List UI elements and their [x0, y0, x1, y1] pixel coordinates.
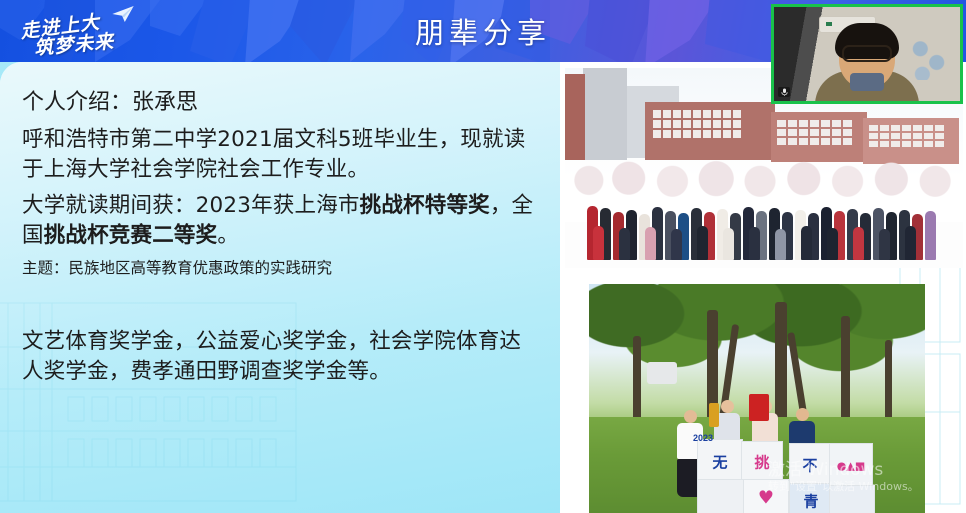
slide-canvas: 朋辈分享 走进上大 筑梦未来	[0, 0, 966, 513]
group-photo-people	[587, 182, 943, 260]
award-bold-1: 挑战杯特等奖	[360, 193, 490, 218]
awards-prefix: 大学就读期间获：	[22, 193, 196, 218]
awards-suffix: 。	[217, 223, 239, 248]
student-intro-line: 个人介绍：张承思	[22, 86, 538, 119]
cube-7: ●▲■	[829, 443, 873, 489]
cube-3	[697, 479, 745, 513]
microphone-icon[interactable]	[778, 87, 790, 97]
scholarships-text: 文艺体育奖学金，公益爱心奖学金，社会学院体育达人奖学金，费孝通田野调查奖学金等。	[22, 327, 538, 387]
cube-char-2: 挑	[754, 452, 769, 473]
speaker-glasses	[842, 45, 892, 62]
logo-line-2: 筑梦未来	[33, 27, 115, 61]
cube-4: ♥	[743, 479, 789, 513]
student-bio: 呼和浩特市第二中学2021届文科5班毕业生，现就读于上海大学社会学院社会工作专业…	[22, 125, 538, 185]
topic-label: 主题：	[22, 259, 69, 277]
research-topic: 主题：民族地区高等教育优惠政策的实践研究	[22, 257, 538, 280]
speaker-collar	[850, 73, 884, 91]
cube-char-4: 青	[803, 491, 818, 512]
cube-8	[829, 485, 875, 513]
paper-plane-icon	[112, 6, 134, 22]
speaker-video-tile[interactable]	[771, 4, 963, 104]
wall-logos	[908, 41, 949, 80]
award-bold-2: 挑战杯竞赛二等奖	[44, 223, 218, 248]
cube-2: 挑	[741, 441, 783, 483]
cube-6: 青	[789, 483, 833, 513]
award-certificate	[749, 394, 769, 421]
student-name: 张承思	[132, 90, 198, 115]
competition-team-photo-campus: 无 挑 ♥ 不 青 ●▲■ 2023	[589, 284, 925, 513]
cube-year-label: 2023	[693, 433, 713, 443]
cube-5: 不	[789, 443, 831, 487]
awards-year: 2023年获上海市	[196, 193, 360, 218]
intro-label: 个人介绍：	[22, 90, 132, 115]
trophy-icon	[709, 403, 719, 427]
topic-text: 民族地区高等教育优惠政策的实践研究	[69, 259, 333, 277]
student-awards: 大学就读期间获：2023年获上海市挑战杯特等奖，全国挑战杯竞赛二等奖。	[22, 191, 538, 251]
cube-char-3: 不	[802, 455, 817, 476]
event-logo: 走进上大 筑梦未来	[8, 4, 148, 62]
student-profile-panel: 个人介绍：张承思 呼和浩特市第二中学2021届文科5班毕业生，现就读于上海大学社…	[0, 62, 560, 513]
cube-char-1: 无	[712, 452, 727, 473]
